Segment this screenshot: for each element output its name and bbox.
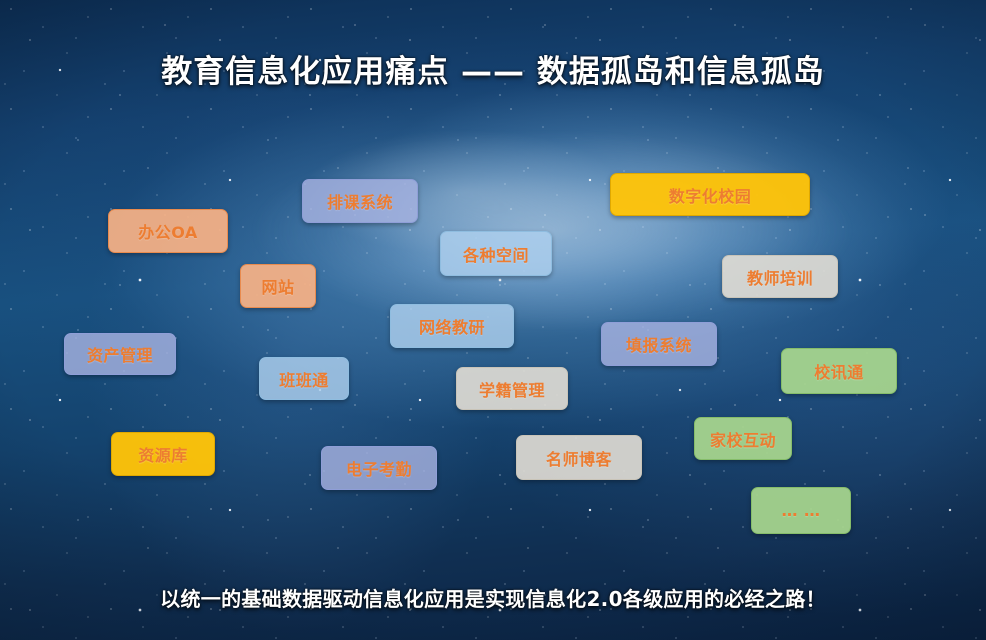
slide-footer-caption: 以统一的基础数据驱动信息化应用是实现信息化2.0各级应用的必经之路！ bbox=[0, 583, 986, 612]
app-box[interactable]: 学籍管理 bbox=[456, 367, 568, 410]
app-box[interactable]: 校讯通 bbox=[781, 348, 897, 394]
app-box[interactable]: 各种空间 bbox=[440, 231, 552, 276]
app-box[interactable]: 办公OA bbox=[108, 209, 228, 253]
app-box[interactable]: … … bbox=[751, 487, 851, 534]
app-box[interactable]: 资源库 bbox=[111, 432, 215, 476]
app-box[interactable]: 电子考勤 bbox=[321, 446, 437, 490]
app-box[interactable]: 班班通 bbox=[259, 357, 349, 400]
app-box[interactable]: 教师培训 bbox=[722, 255, 838, 298]
slide-title: 教育信息化应用痛点 —— 数据孤岛和信息孤岛 bbox=[0, 46, 986, 91]
app-box[interactable]: 家校互动 bbox=[694, 417, 792, 460]
app-box[interactable]: 排课系统 bbox=[302, 179, 418, 223]
app-box[interactable]: 数字化校园 bbox=[610, 173, 810, 216]
app-box[interactable]: 名师博客 bbox=[516, 435, 642, 480]
app-box[interactable]: 网络教研 bbox=[390, 304, 514, 348]
app-box[interactable]: 网站 bbox=[240, 264, 316, 308]
app-box[interactable]: 填报系统 bbox=[601, 322, 717, 366]
app-box[interactable]: 资产管理 bbox=[64, 333, 176, 375]
slide-canvas: 教育信息化应用痛点 —— 数据孤岛和信息孤岛 排课系统数字化校园办公OA各种空间… bbox=[0, 0, 986, 640]
